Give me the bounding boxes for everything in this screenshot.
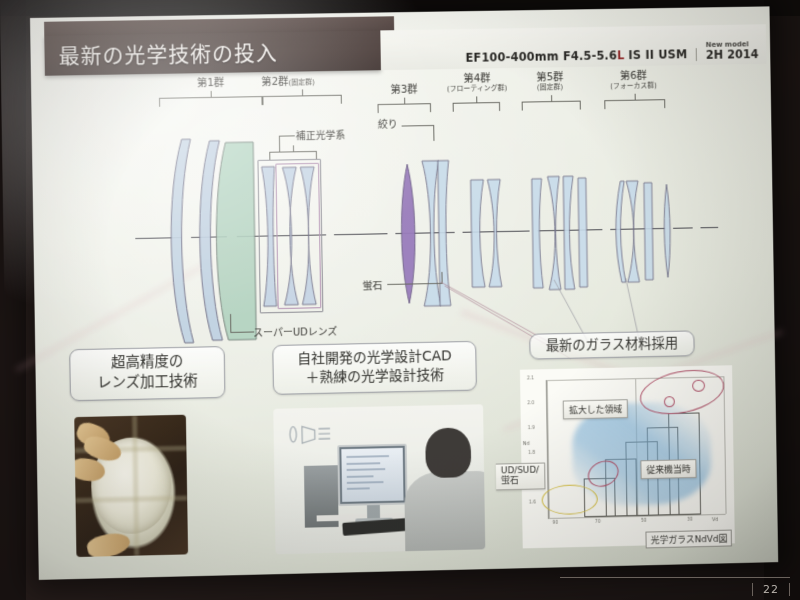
lens-name-suffix: IS II USM [624,48,687,63]
chart-tick-x-4: 30 [687,518,693,523]
page-title: 最新の光学技術の投入 [44,37,277,71]
lens-name-prefix: EF100-400mm F4.5-5.6 [465,49,617,65]
chart-caption: 光学ガラスNdVd図 [646,529,733,548]
group-4-name: 第4群 [463,72,490,84]
group-6-name: 第6群 [620,70,647,82]
finger-4 [85,529,131,557]
chart-tick-y-1: 2.1 [527,376,534,381]
lens-element-g3-3 [436,158,454,307]
chart-vline-3 [724,376,727,514]
group-label-2: 第2群(固定群) [236,75,339,89]
projection-room: 最新の光学技術の投入 EF100-400mm F4.5-5.6L IS II U… [0,0,800,600]
chart-callout-ud-sud-fluorite: UD/SUD/ 蛍石 [496,462,546,491]
chart-callout-ud-line2: 蛍石 [501,476,539,488]
lens-element-g6-2 [623,179,642,284]
group-bracket-6 [604,99,665,109]
leader-correction-h [279,135,295,136]
chart-axis-label-y: Nd [523,441,530,447]
ring-dot-1 [692,379,705,392]
callout-fluorite: 蛍石 [362,277,382,292]
group-label-3: 第3群 [374,83,433,96]
model-badge: New model 2H 2014 [697,41,759,61]
monitor [337,444,407,507]
optical-axis-seg-9 [673,227,693,228]
group-2-sub: (固定群) [289,78,315,86]
chart-caption-text: 光学ガラスNdVd図 [651,534,728,546]
callout-correction-optics: 補正光学系 [296,127,346,143]
group-bracket-1 [159,96,263,107]
leader-fluorite-v [441,272,442,284]
chart-callout-ud-line1: UD/SUD/ [501,465,539,477]
chart-tick-x-2: 70 [595,520,601,525]
group-label-4: 第4群 (フローティング群) [434,72,519,93]
wall-panel-left [0,0,26,600]
model-badge-date: 2H 2014 [706,48,759,61]
slide-canvas: 最新の光学技術の投入 EF100-400mm F4.5-5.6L IS II U… [30,6,778,580]
chart-callout-expanded-region: 拡大した領域 [563,400,628,420]
leader-aperture-v [433,125,434,141]
lens-element-g5-1 [529,177,547,290]
panel-label-optical-design-cad: 自社開発の光学設計CAD ＋熟練の光学設計技術 [272,341,477,395]
panel3-line1: 最新のガラス材料採用 [546,335,679,356]
lens-element-g6-4 [661,182,674,279]
lens-model-name: EF100-400mm F4.5-5.6L IS II USM [465,48,697,64]
chart-tick-y-3: 1.9 [528,426,535,431]
group-6-sub: (フォーカス群) [594,81,673,90]
optical-axis-seg-4 [334,233,387,235]
screen-line-1 [346,455,389,458]
screen-line-6 [346,488,369,491]
lens-element-g5-4 [576,176,590,289]
callout-aperture: 絞り [378,116,398,131]
photo-lens-polishing [74,415,188,557]
lens-element-g4-2 [485,177,504,289]
lens-element-g5-3 [560,174,578,291]
group-2-name: 第2群 [261,76,289,88]
title-bar: 最新の光学技術の投入 [44,30,381,75]
screen-line-2 [346,462,380,465]
group-bracket-3 [378,103,432,113]
group-bracket-2 [262,95,341,105]
panel2-line2: ＋熟練の光学設計技術 [297,366,452,388]
chart-callout-legacy: 従来機当時 [640,459,696,479]
chart-tick-y-6: 1.6 [529,501,536,506]
engineer-body [405,471,486,554]
group-5-name: 第5群 [536,71,563,83]
screen-line-5 [346,481,383,484]
leader-aperture-h [402,125,434,127]
group-5-sub: (固定群) [515,83,584,92]
projected-slide: 最新の光学技術の投入 EF100-400mm F4.5-5.6L IS II U… [30,6,778,580]
lens-element-g1-3-super-ud [209,140,260,344]
panel-label-lens-processing: 超高精度の レンズ加工技術 [69,346,225,401]
chart-tick-y-4: 1.8 [528,451,535,456]
screen-line-4 [346,475,373,478]
photo-cad-workstation [273,404,485,554]
group-3-name: 第3群 [390,84,418,96]
group-label-5: 第5群 (固定群) [515,71,584,92]
group-4-sub: (フローティング群) [435,84,520,93]
group-label-1: 第1群 [181,77,241,90]
callout-super-ud: スーパーUDレンズ [253,323,337,340]
panel-label-new-glass-material: 最新のガラス材料採用 [529,330,694,359]
group-bracket-4 [453,102,500,112]
monitor-screen [341,448,403,502]
footer-rule [560,577,790,578]
chart-tick-x-1: 90 [552,521,558,526]
chart-plot-area: 2.1 2.0 1.9 1.8 1.7 1.6 90 70 50 30 Vd N… [546,376,726,519]
lens-element-g6-3 [641,181,656,282]
group-bracket-5 [522,101,581,111]
leader-correction-v [279,136,280,152]
page-number: 22 [752,583,790,596]
group-label-6: 第6群 (フォーカス群) [594,69,673,90]
chart-tick-y-2: 2.0 [527,401,534,406]
lens-element-g2-3 [297,165,319,307]
lens-element-g2-1 [259,164,279,310]
panel1-line2: レンズ加工技術 [97,373,198,395]
optical-axis-seg-10 [700,227,718,228]
engineer-head [425,428,472,478]
group-1-name: 第1群 [197,77,225,89]
glass-ndvd-chart: 2.1 2.0 1.9 1.8 1.7 1.6 90 70 50 30 Vd N… [520,365,735,548]
panel1-line1: 超高精度の [97,353,198,375]
header-strip: EF100-400mm F4.5-5.6L IS II USM New mode… [380,24,766,70]
chart-axis-label-x: Vd [712,517,719,523]
screen-line-3 [346,468,385,471]
chart-tick-x-3: 50 [641,519,647,524]
